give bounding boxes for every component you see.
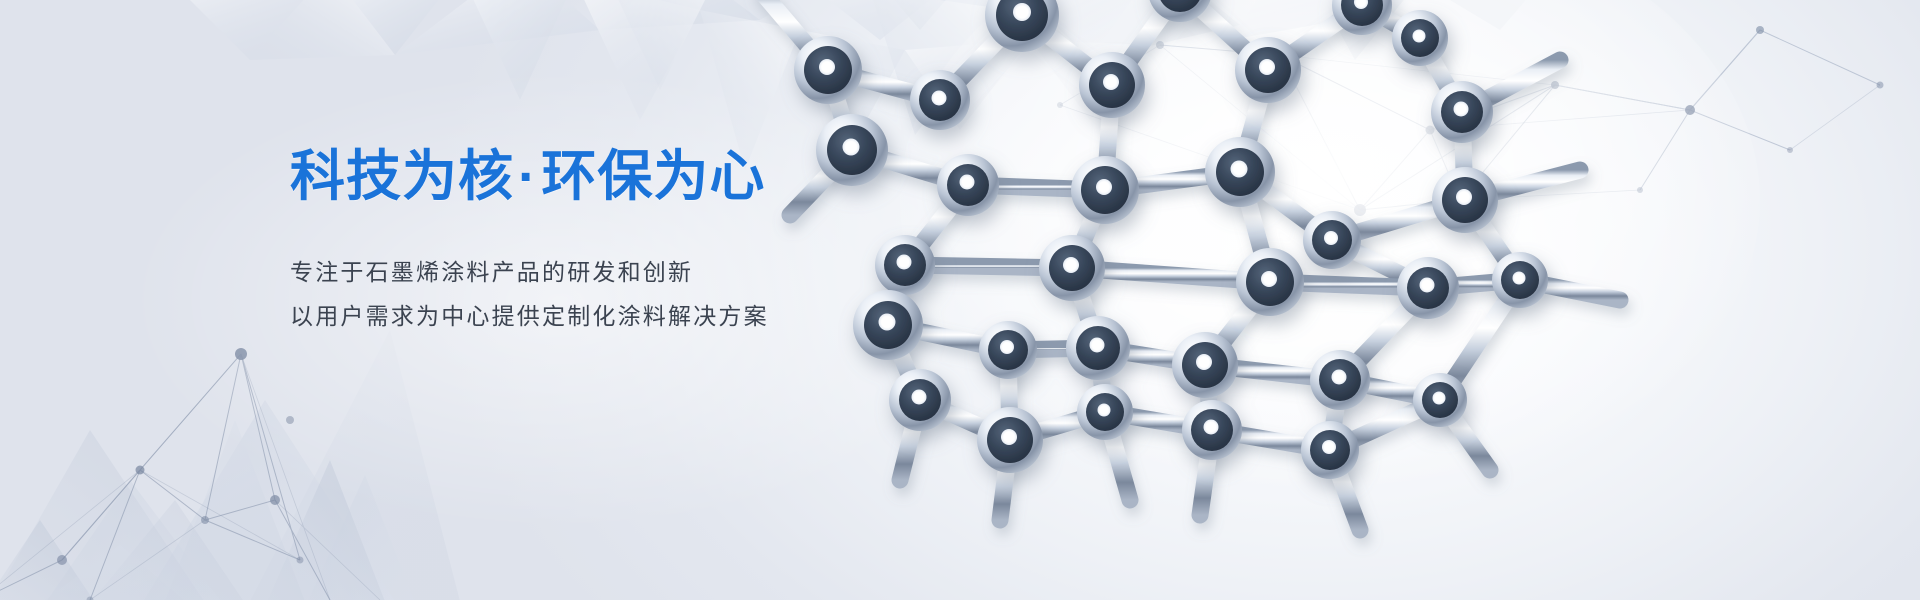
headline-left: 科技为核 — [290, 145, 514, 207]
page-title: 科技为核·环保为心 — [290, 148, 990, 206]
subtitle-line-2: 以用户需求为中心提供定制化涂料解决方案 — [290, 294, 990, 338]
headline-separator: · — [514, 145, 541, 207]
headline-right: 环保为心 — [541, 145, 765, 207]
subtitle-line-1: 专注于石墨烯涂料产品的研发和创新 — [290, 250, 990, 294]
hero-copy: 科技为核·环保为心 专注于石墨烯涂料产品的研发和创新 以用户需求为中心提供定制化… — [290, 148, 990, 338]
hero-subtitles: 专注于石墨烯涂料产品的研发和创新 以用户需求为中心提供定制化涂料解决方案 — [290, 250, 990, 338]
hero-banner: 科技为核·环保为心 专注于石墨烯涂料产品的研发和创新 以用户需求为中心提供定制化… — [0, 0, 1920, 600]
